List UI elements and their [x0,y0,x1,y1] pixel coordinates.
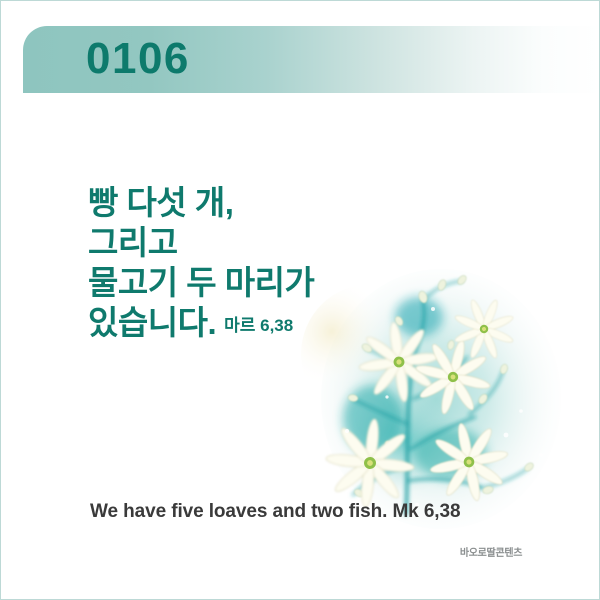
verse-subtitle-english: We have five loaves and two fish. Mk 6,3… [90,501,460,523]
headline-line-2: 그리고 [88,223,518,263]
verse-headline-korean: 빵 다섯 개, 그리고 물고기 두 마리가 있습니다.마르 6,38 [88,183,518,346]
headline-line-4: 있습니다.마르 6,38 [88,303,518,346]
publisher-credit: 바오로딸콘텐츠 [401,544,581,559]
headline-line-1: 빵 다섯 개, [88,183,518,223]
date-number: 0106 [86,34,190,84]
headline-line-4-text: 있습니다. [88,304,216,341]
verse-reference-korean: 마르 6,38 [224,316,293,335]
devotion-card: 0106 빵 다섯 개, 그리고 물고기 두 마리가 있습니다.마르 6,38 … [0,0,600,600]
headline-line-3: 물고기 두 마리가 [88,263,518,303]
header-banner: 0106 [23,26,600,93]
